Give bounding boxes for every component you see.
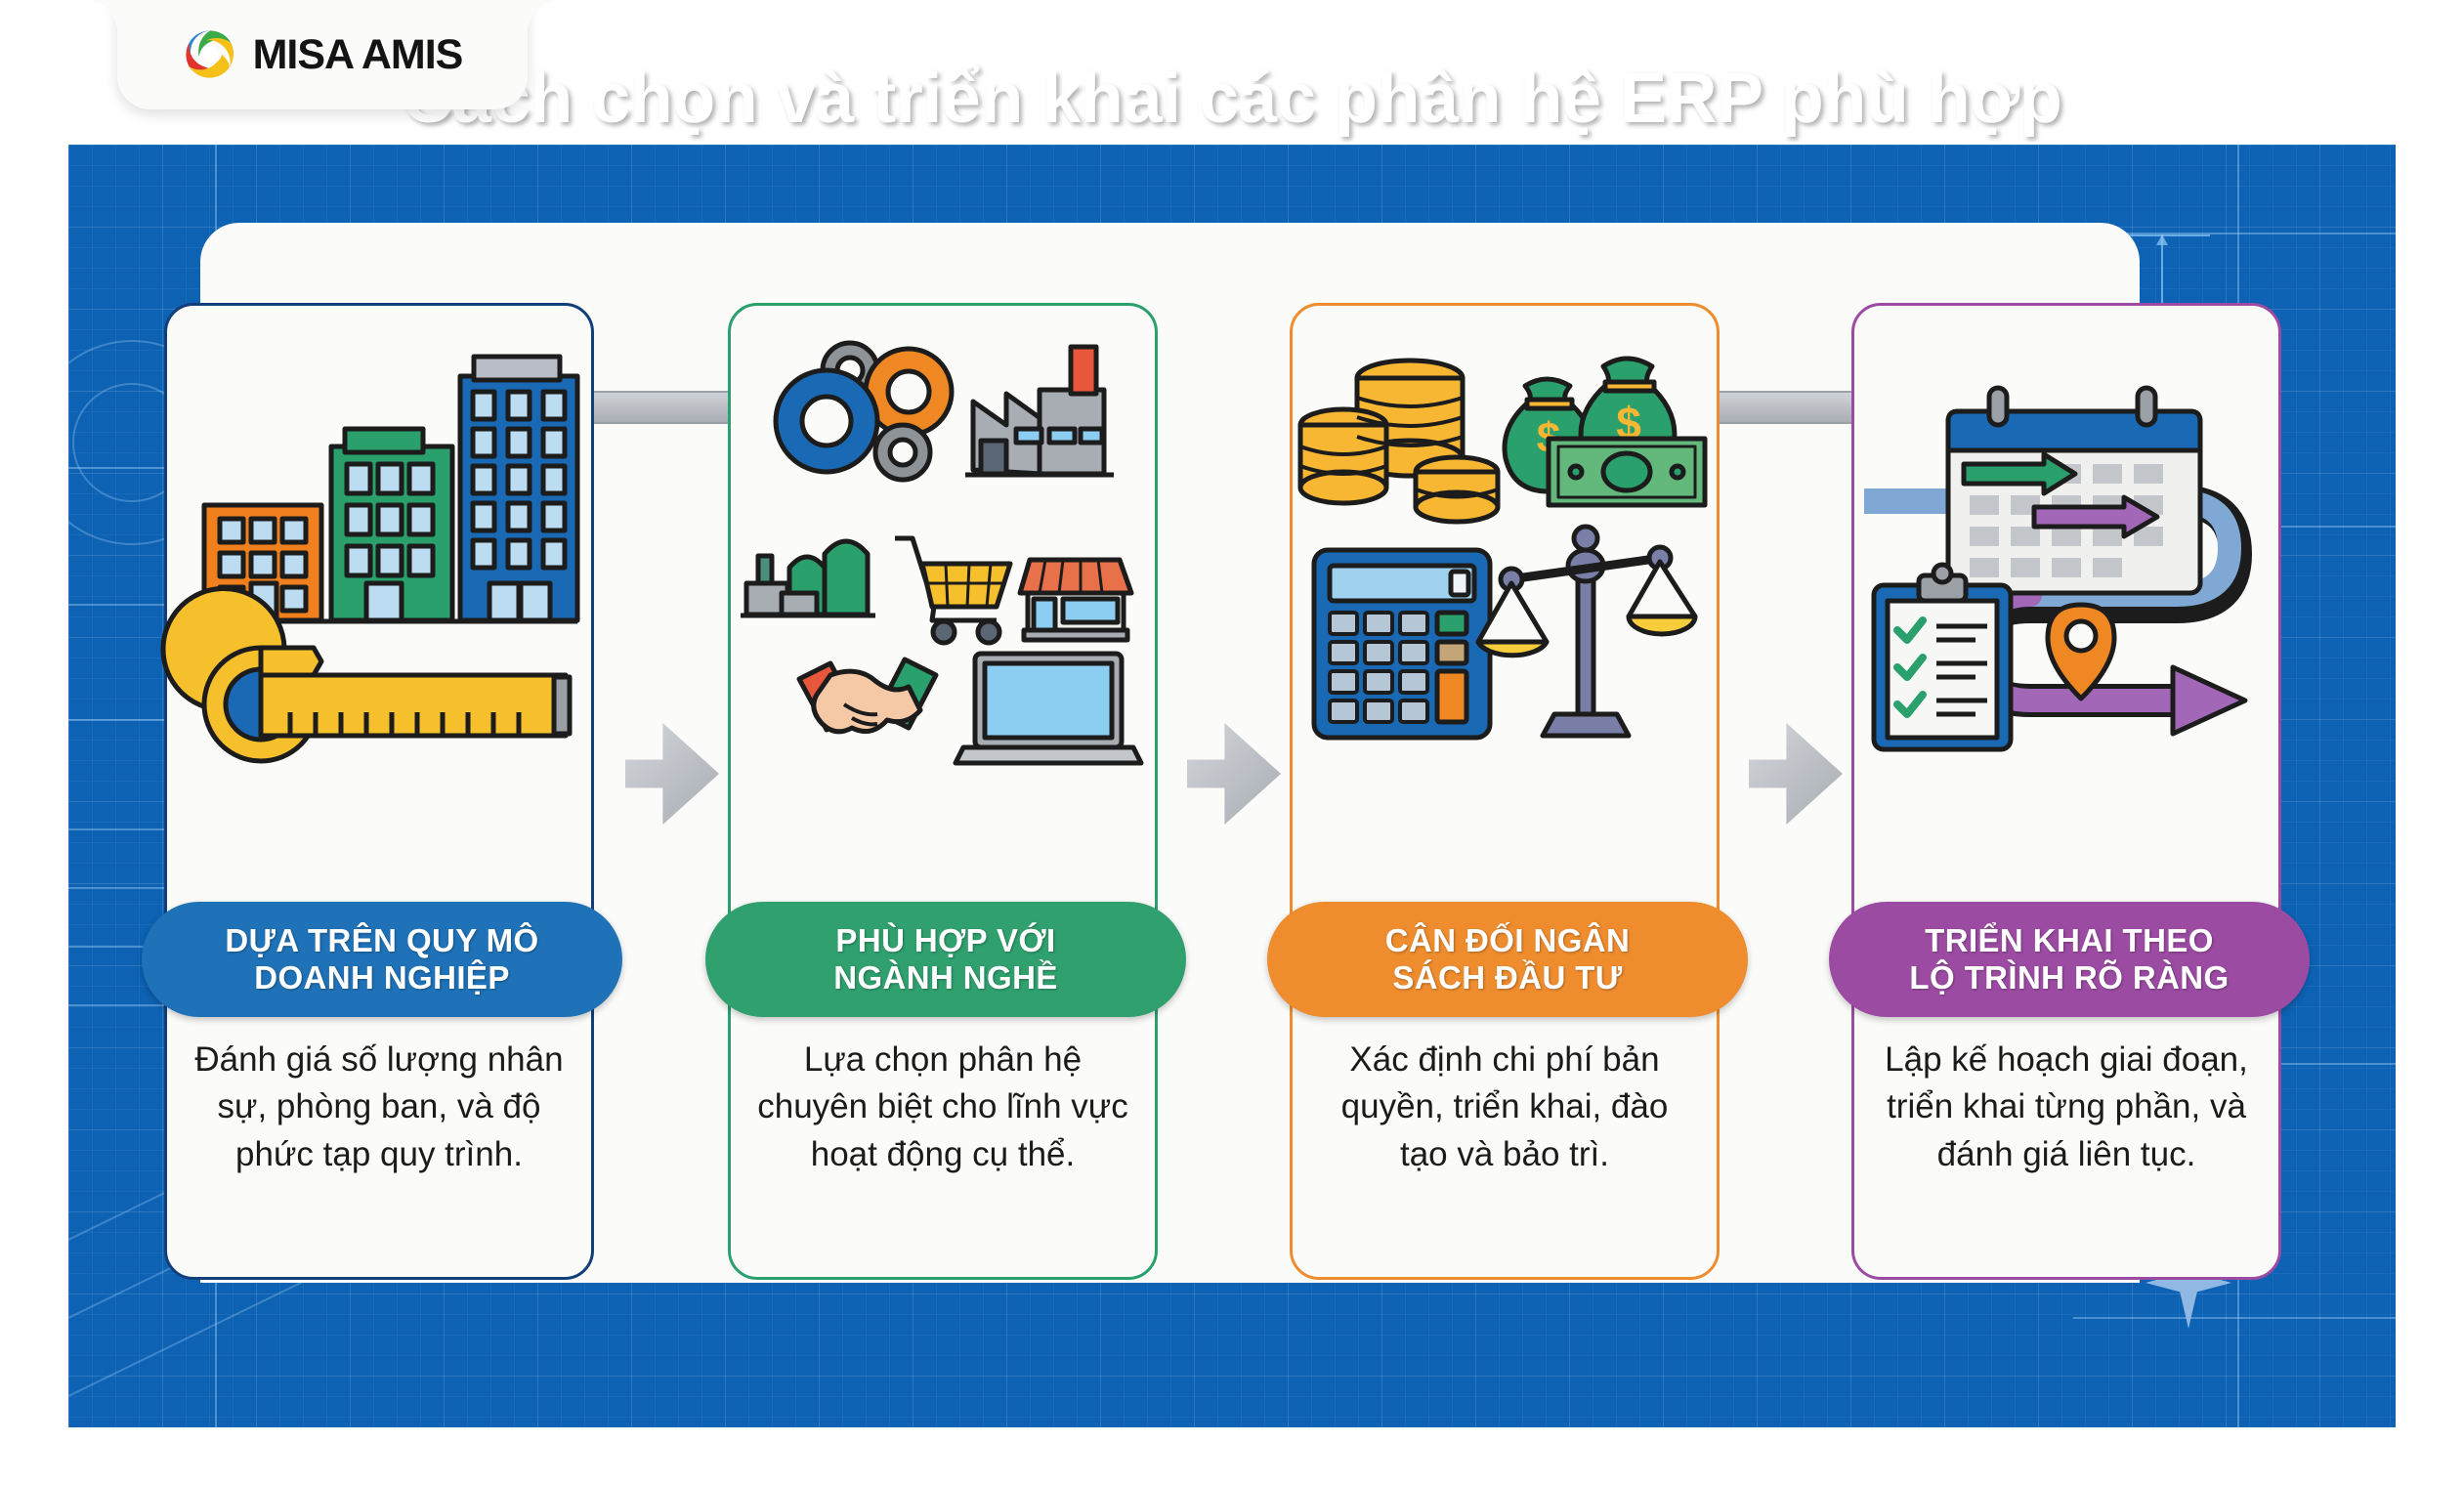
step-2-title-pill: PHÙ HỢP VỚI NGÀNH NGHỀ [705,902,1186,1017]
step-4-title-line1: TRIỂN KHAI THEO [1925,922,2214,959]
step-3-title-pill: CÂN ĐỐI NGÂN SÁCH ĐẦU TƯ [1267,902,1748,1017]
brand-logo-bar[interactable]: MISA AMIS [117,0,528,109]
step-1-title-line2: DOANH NGHIỆP [254,959,510,997]
step-4-description: Lập kế hoạch giai đoạn, triển khai từng … [1876,1037,2257,1178]
step-4-title-pill: TRIỂN KHAI THEO LỘ TRÌNH RÕ RÀNG [1829,902,2310,1017]
step-1-description: Đánh giá số lượng nhân sự, phòng ban, và… [189,1037,570,1178]
blueprint-hline-right [2073,1317,2396,1319]
step-2-title-line1: PHÙ HỢP VỚI [835,922,1055,959]
step-card-3[interactable]: $ $ [1290,303,1720,1280]
infographic-root: Cách chọn và triển khai các phân hệ ERP … [0,0,2464,1485]
step-card-2[interactable]: PHÙ HỢP VỚI NGÀNH NGHỀ Lựa chọn phân hệ … [728,303,1158,1280]
step-3-icon-group: $ $ [1293,331,1717,878]
step-card-4[interactable]: TRIỂN KHAI THEO LỘ TRÌNH RÕ RÀNG Lập kế … [1851,303,2281,1280]
step-card-1[interactable]: DỰA TRÊN QUY MÔ DOANH NGHIỆP Đánh giá số… [164,303,594,1280]
step-3-title-line2: SÁCH ĐẦU TƯ [1392,959,1622,997]
step-1-icon-group [167,331,591,878]
step-1-title-pill: DỰA TRÊN QUY MÔ DOANH NGHIỆP [142,902,622,1017]
step-4-title-line2: LỘ TRÌNH RÕ RÀNG [1909,959,2229,997]
step-3-title-line1: CÂN ĐỐI NGÂN [1385,922,1630,959]
step-4-icon-group [1854,331,2278,878]
step-1-title-line1: DỰA TRÊN QUY MÔ [225,922,538,959]
step-3-description: Xác định chi phí bản quyền, triển khai, … [1314,1037,1695,1178]
brand-name: MISA AMIS [253,31,463,79]
step-2-icon-group [731,331,1155,878]
step-2-description: Lựa chọn phân hệ chuyên biệt cho lĩnh vự… [752,1037,1133,1178]
misa-amis-swirl-logo-icon [183,27,237,82]
step-2-title-line2: NGÀNH NGHỀ [833,959,1058,997]
